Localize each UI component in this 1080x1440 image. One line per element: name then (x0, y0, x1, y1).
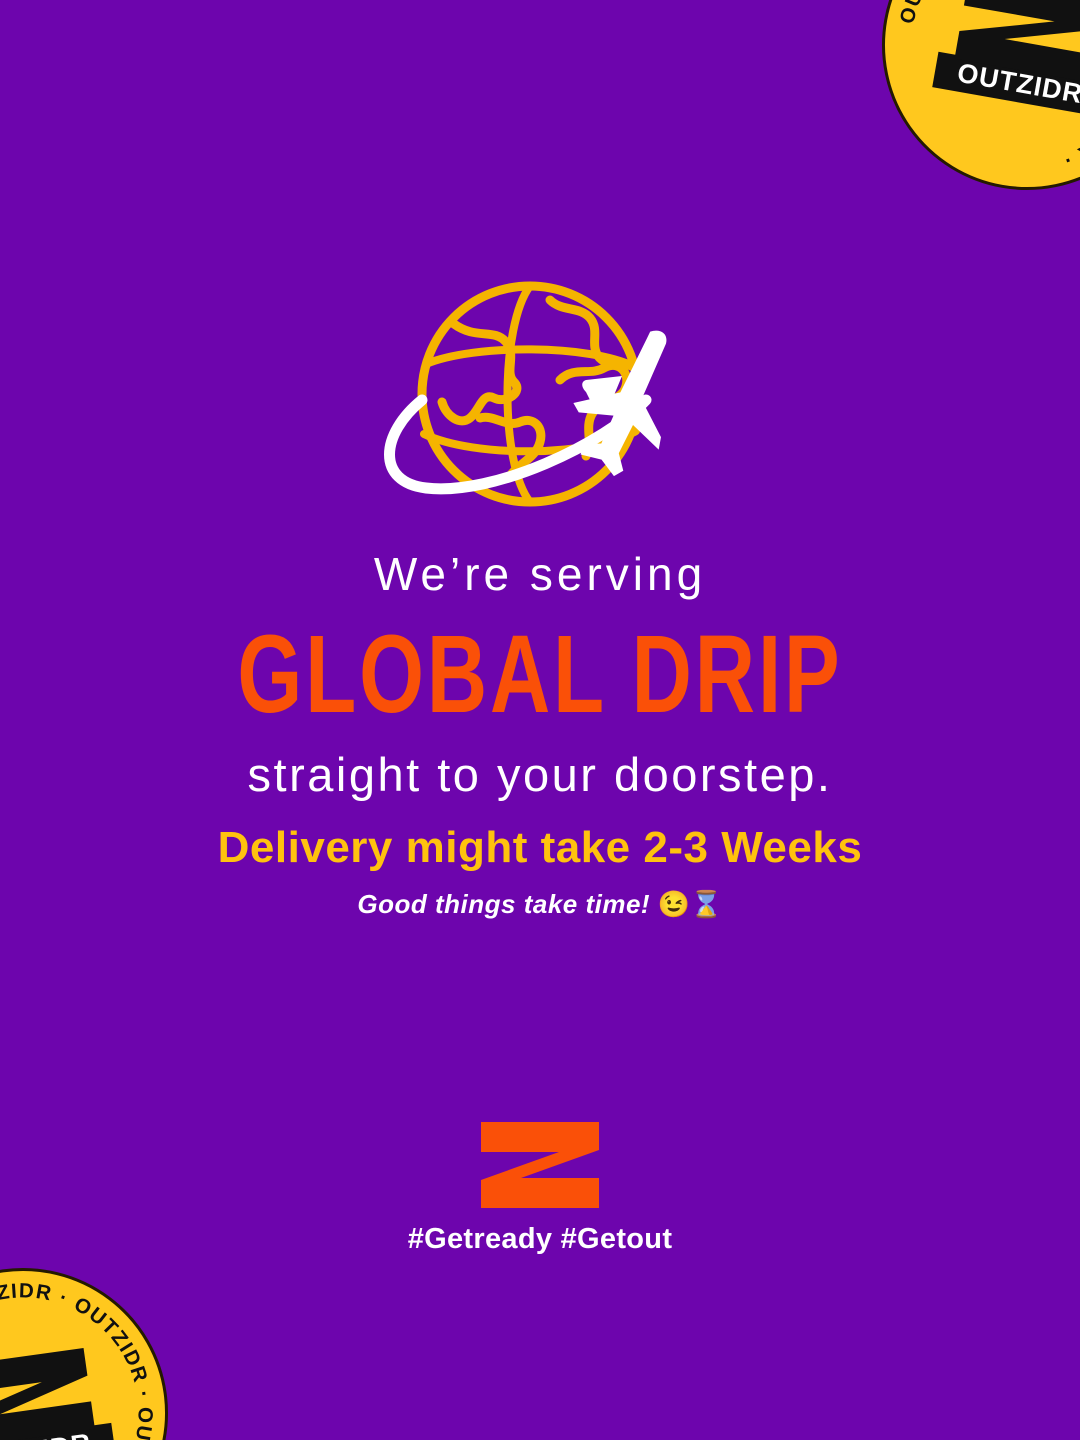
badge-top-right: OUTZIDR · OUTZIDR · OUTZIDR · OUTZIDR · … (859, 0, 1080, 213)
delivery-note: Delivery might take 2-3 Weeks Good thing… (0, 822, 1080, 920)
promo-poster: OUTZIDR · OUTZIDR · OUTZIDR · OUTZIDR · … (0, 0, 1080, 1440)
headline-line-2: GLOBAL DRIP (16, 611, 1064, 741)
globe-illustration (0, 268, 1080, 520)
headline-line-1: We’re serving (0, 548, 1080, 601)
headline-line-3: straight to your doorstep. (0, 748, 1080, 802)
outzidr-z-mark-icon (0, 1345, 101, 1440)
brand-footer: #Getready #Getout (0, 1122, 1080, 1257)
delivery-subline-text: Good things take time! (357, 889, 650, 919)
headline-block: We’re serving GLOBAL DRIP straight to yo… (0, 548, 1080, 802)
outzidr-z-logo-icon (479, 1122, 601, 1208)
delivery-headline: Delivery might take 2-3 Weeks (0, 822, 1080, 875)
delivery-subline-emoji: 😉⌛ (658, 889, 723, 919)
brand-hashtags: #Getready #Getout (0, 1222, 1080, 1257)
delivery-subline: Good things take time! 😉⌛ (0, 889, 1080, 920)
badge-bottom-left: OUTZIDR · OUTZIDR · OUTZIDR · OUTZIDR · … (0, 1249, 187, 1440)
badge-core-bottom-left: OUTZIDR (0, 1344, 116, 1440)
